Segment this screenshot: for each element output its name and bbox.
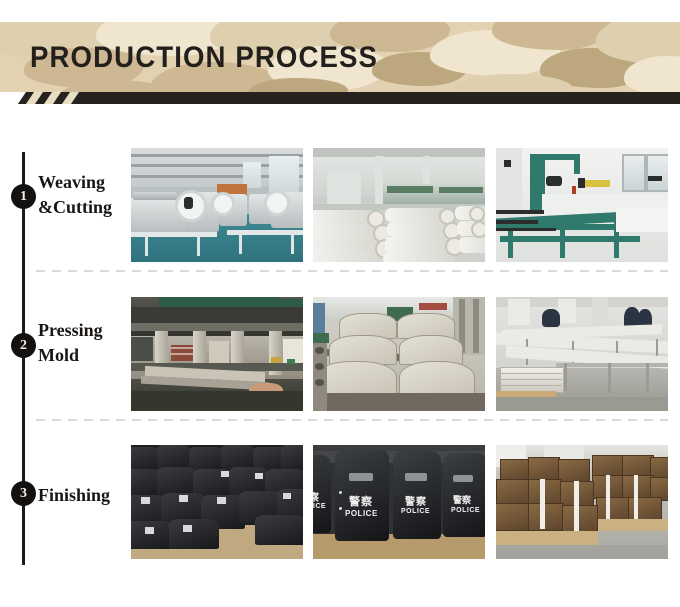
shield-en-text-1: POLICE	[345, 509, 378, 518]
photo-police-riot-shields: 警察 POLICE 警察 POLICE 警察 POLICE 警察 POLICE	[313, 445, 485, 559]
step-label-1-line2: &Cutting	[38, 195, 130, 220]
photo-molded-panels	[313, 297, 485, 411]
photo-cutting-machine	[496, 148, 668, 262]
banner: PRODUCTION PROCESS	[0, 22, 680, 98]
step-badge-3: 3	[11, 481, 36, 506]
shield-en-text-2: POLICE	[401, 508, 430, 515]
photo-fabric-roll-storage	[313, 148, 485, 262]
shield-cn-text-3: 警察	[453, 493, 471, 506]
row-separator-1	[36, 270, 668, 272]
step-badge-2: 2	[11, 333, 36, 358]
step-label-2-line1: Pressing	[38, 318, 130, 343]
step-label-1-line1: Weaving	[38, 170, 130, 195]
banner-accent-bar	[0, 92, 680, 104]
step-badge-1: 1	[11, 184, 36, 209]
step-label-3-line1: Finishing	[38, 483, 130, 508]
step-label-3: Finishing	[38, 483, 130, 508]
photo-packed-cartons	[496, 445, 668, 559]
production-process-page: PRODUCTION PROCESS 1 2 3 Weaving &Cuttin…	[0, 0, 680, 607]
page-title: PRODUCTION PROCESS	[30, 38, 378, 78]
photo-weaving-workshop	[131, 148, 303, 262]
shield-cn-text-1: 警察	[349, 493, 373, 509]
shield-cn-text-0: 警察	[313, 489, 319, 504]
shield-en-text-3: POLICE	[451, 507, 480, 514]
photo-assembly-workbenches	[496, 297, 668, 411]
shield-cn-text-2: 警察	[405, 493, 427, 508]
row-separator-2	[36, 419, 668, 421]
photo-hydraulic-press	[131, 297, 303, 411]
photo-finished-ballistic-plates	[131, 445, 303, 559]
step-label-2: Pressing Mold	[38, 318, 130, 368]
shield-en-text-0: POLICE	[313, 503, 326, 510]
banner-bar-dark	[0, 92, 680, 104]
step-label-1: Weaving &Cutting	[38, 170, 130, 220]
step-label-2-line2: Mold	[38, 343, 130, 368]
